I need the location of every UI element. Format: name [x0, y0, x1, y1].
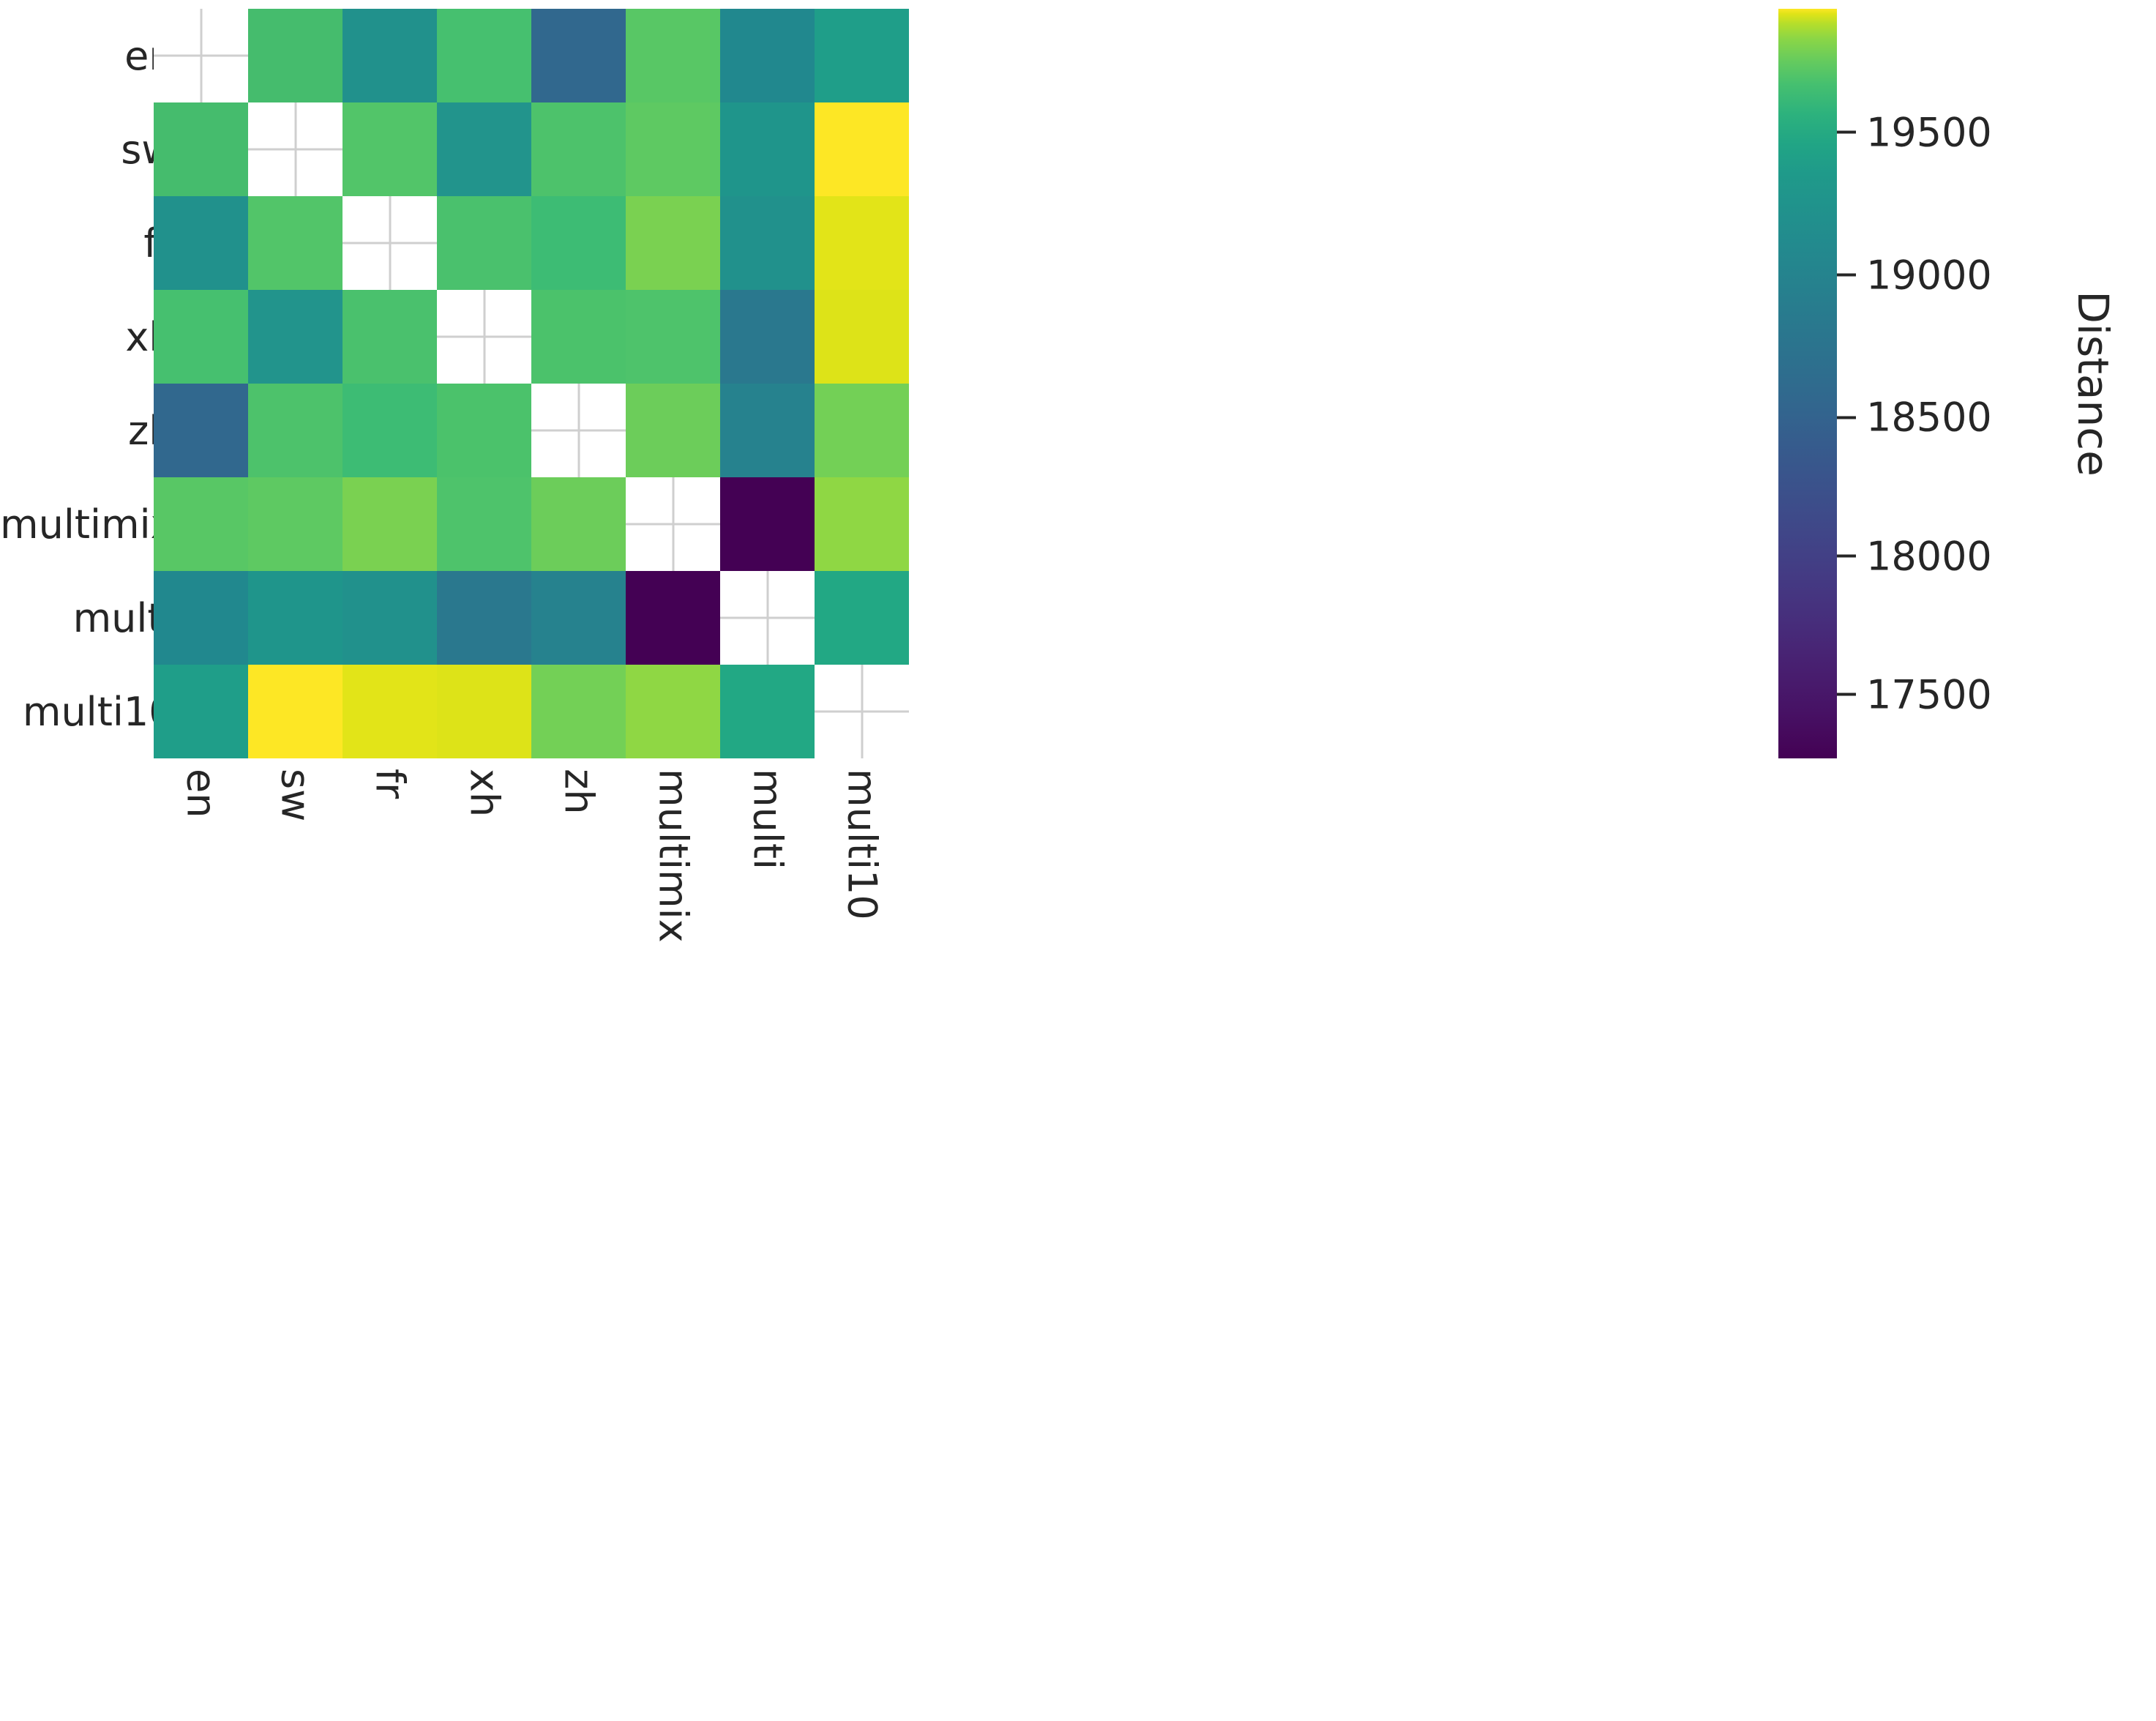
heatmap-cell [626, 102, 720, 196]
heatmap-cell [626, 571, 720, 665]
x-tick-1: sw [248, 764, 343, 1072]
heatmap-cell [437, 571, 531, 665]
heatmap-cell [720, 196, 815, 290]
colorbar-tick-mark [1837, 555, 1856, 558]
x-axis-tick-labels: en sw fr xh zh multimix multi multi10 [154, 764, 909, 1072]
heatmap-cell [154, 196, 248, 290]
heatmap-cell [626, 665, 720, 758]
x-tick-label: multi [744, 769, 790, 870]
heatmap-cell [343, 477, 437, 571]
heatmap-cell [248, 9, 343, 102]
heatmap-cell [343, 571, 437, 665]
heatmap-cell [815, 477, 909, 571]
heatmap-cell [154, 477, 248, 571]
colorbar-tick-label: 17500 [1866, 671, 1992, 717]
x-tick-5: multimix [626, 764, 720, 1072]
heatmap-cell [531, 665, 626, 758]
heatmap-cell [815, 290, 909, 384]
y-axis-tick-labels: en sw fr xh zh multimix multi multi10 [0, 9, 143, 758]
x-tick-label: sw [272, 769, 318, 821]
heatmap-cell [154, 665, 248, 758]
heatmap-cell [343, 384, 437, 477]
heatmap-cell [626, 9, 720, 102]
heatmap-cell [531, 196, 626, 290]
heatmap-cell [154, 571, 248, 665]
colorbar-tick-label: 19500 [1866, 109, 1992, 155]
heatmap-cell [626, 477, 720, 571]
heatmap-cell [437, 102, 531, 196]
heatmap-cell [248, 384, 343, 477]
colorbar-tick-mark [1837, 693, 1856, 696]
x-tick-6: multi [720, 764, 815, 1072]
heatmap-cell [720, 571, 815, 665]
colorbar-tick-mark [1837, 416, 1856, 419]
heatmap-cell [720, 290, 815, 384]
heatmap-cell [437, 9, 531, 102]
x-tick-label: xh [461, 769, 507, 817]
heatmap-cell [248, 477, 343, 571]
heatmap-cell [343, 665, 437, 758]
heatmap-cell [815, 665, 909, 758]
heatmap-cell [437, 290, 531, 384]
heatmap-cell [154, 384, 248, 477]
x-tick-label: zh [555, 769, 602, 815]
heatmap-cell [248, 571, 343, 665]
heatmap-cell [531, 384, 626, 477]
x-tick-label: multi10 [839, 769, 885, 920]
heatmap-cell [531, 290, 626, 384]
x-tick-label: fr [367, 769, 413, 799]
heatmap-cell [343, 102, 437, 196]
x-tick-7: multi10 [815, 764, 909, 1072]
heatmap-cell [626, 384, 720, 477]
heatmap-cell [248, 290, 343, 384]
heatmap-cell [720, 477, 815, 571]
heatmap-cell [815, 9, 909, 102]
colorbar-tick-4: 17500 [1837, 671, 1992, 717]
x-tick-4: zh [531, 764, 626, 1072]
heatmap-cell [248, 102, 343, 196]
heatmap-cell [437, 477, 531, 571]
heatmap-cell [343, 196, 437, 290]
heatmap-cell [720, 102, 815, 196]
heatmap-cell [343, 9, 437, 102]
heatmap-cell [531, 571, 626, 665]
x-tick-0: en [154, 764, 248, 1072]
x-tick-label: multimix [650, 769, 696, 943]
colorbar: 19500 19000 18500 18000 17500 Distance [1778, 9, 2144, 758]
x-tick-3: xh [437, 764, 531, 1072]
heatmap-cell [720, 9, 815, 102]
heatmap-cell [531, 9, 626, 102]
heatmap-cell [720, 384, 815, 477]
colorbar-tick-label: 18500 [1866, 395, 1992, 441]
heatmap-cell [248, 196, 343, 290]
heatmap-cell [626, 290, 720, 384]
heatmap-cell [437, 196, 531, 290]
heatmap-cell [248, 665, 343, 758]
colorbar-tick-mark [1837, 131, 1856, 134]
colorbar-tick-label: 18000 [1866, 533, 1992, 579]
heatmap-cell [154, 290, 248, 384]
y-tick-label: multimix [0, 501, 174, 548]
colorbar-tick-1: 19000 [1837, 252, 1992, 298]
heatmap-grid [154, 9, 909, 758]
heatmap-cell [154, 102, 248, 196]
heatmap-figure: en sw fr xh zh multimix multi multi10 en… [0, 0, 2156, 1721]
heatmap-cell [815, 102, 909, 196]
heatmap-cell [343, 290, 437, 384]
colorbar-tick-label: 19000 [1866, 252, 1992, 298]
x-tick-2: fr [343, 764, 437, 1072]
colorbar-tick-mark [1837, 274, 1856, 277]
colorbar-tick-0: 19500 [1837, 109, 1992, 155]
heatmap-cell [720, 665, 815, 758]
colorbar-gradient [1778, 9, 1837, 758]
heatmap-cell [626, 196, 720, 290]
heatmap-plot-area [154, 9, 909, 758]
colorbar-tick-3: 18000 [1837, 533, 1992, 579]
heatmap-cell [154, 9, 248, 102]
y-tick-label: multi10 [23, 689, 174, 735]
heatmap-cell [815, 384, 909, 477]
colorbar-tick-2: 18500 [1837, 395, 1992, 441]
heatmap-cell [437, 665, 531, 758]
x-tick-label: en [178, 769, 224, 818]
colorbar-axis-label: Distance [2068, 291, 2118, 477]
heatmap-cell [815, 571, 909, 665]
heatmap-cell [437, 384, 531, 477]
heatmap-cell [531, 102, 626, 196]
heatmap-cell [815, 196, 909, 290]
heatmap-cell [531, 477, 626, 571]
